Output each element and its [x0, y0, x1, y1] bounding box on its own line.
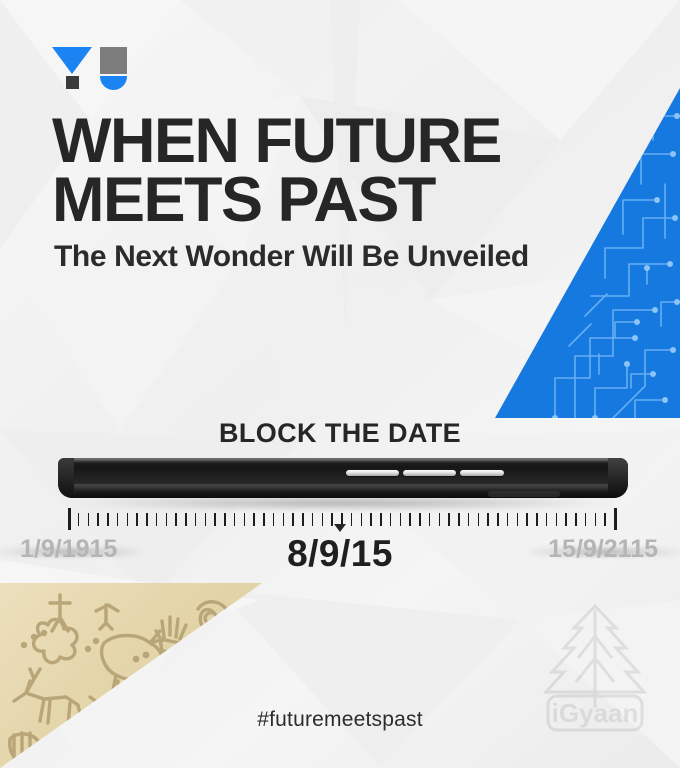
ruler-tick — [390, 513, 392, 526]
ruler-tick — [604, 513, 606, 526]
ruler-tick — [575, 513, 577, 526]
ruler-tick — [361, 513, 363, 526]
ruler-tick — [478, 513, 480, 526]
ruler-tick — [136, 513, 138, 526]
ruler-tick — [224, 513, 226, 526]
yu-logo — [52, 47, 124, 89]
ruler-tick — [205, 513, 207, 526]
ruler-tick — [400, 513, 402, 526]
ruler-tick — [322, 513, 324, 526]
ruler-tick — [517, 513, 519, 526]
ruler-tick — [370, 513, 372, 526]
ruler-tick — [331, 513, 333, 526]
phone-volume-down-button — [403, 470, 456, 476]
ruler-tick — [78, 513, 80, 526]
ruler-tick — [166, 513, 168, 526]
ruler-tick — [263, 513, 265, 526]
phone-power-button — [460, 470, 504, 476]
ruler-tick — [146, 513, 148, 526]
igyaan-watermark: iGyaan — [534, 596, 656, 754]
ruler-tick — [458, 513, 460, 526]
phone-left-cap — [58, 458, 74, 498]
ruler-tick — [127, 513, 129, 526]
ruler-tick — [273, 513, 275, 526]
ruler-end-tick — [614, 508, 617, 530]
ruler-tick — [185, 513, 187, 526]
phone-body — [58, 458, 628, 498]
block-the-date-label: BLOCK THE DATE — [0, 418, 680, 449]
logo-y-triangle-icon — [52, 47, 92, 74]
ruler-tick — [497, 513, 499, 526]
phone-chamfer — [58, 484, 628, 491]
headline: WHEN FUTURE MEETS PAST — [52, 112, 632, 229]
ruler-tick — [448, 513, 450, 526]
ruler-tick — [244, 513, 246, 526]
ruler-tick — [156, 513, 158, 526]
logo-y-dot-icon — [66, 76, 79, 89]
ruler-tick — [565, 513, 567, 526]
ruler-tick — [107, 513, 109, 526]
igyaan-logo-icon: iGyaan — [534, 596, 656, 754]
ruler-tick — [195, 513, 197, 526]
ruler-tick — [312, 513, 314, 526]
ruler-tick — [487, 513, 489, 526]
ruler-tick — [234, 513, 236, 526]
ruler-tick — [302, 513, 304, 526]
ruler-tick — [507, 513, 509, 526]
ruler-tick — [419, 513, 421, 526]
ruler-tick — [253, 513, 255, 526]
igyaan-wordmark: iGyaan — [552, 698, 639, 728]
ruler-tick — [536, 513, 538, 526]
ruler-tick — [283, 513, 285, 526]
ruler-tick — [468, 513, 470, 526]
ruler-tick — [351, 513, 353, 526]
ruler-tick — [380, 513, 382, 526]
logo-u-bowl-icon — [100, 76, 127, 90]
ruler-tick — [429, 513, 431, 526]
smartphone-side-profile — [58, 458, 628, 510]
ruler-tick — [595, 513, 597, 526]
promo-poster: WHEN FUTURE MEETS PAST The Next Wonder W… — [0, 0, 680, 768]
ruler-tick — [585, 513, 587, 526]
phone-top-edge — [60, 459, 626, 463]
timeline-pointer — [334, 524, 346, 532]
ruler-tick — [292, 513, 294, 526]
ruler-tick — [175, 513, 177, 526]
phone-port — [488, 491, 560, 497]
ruler-end-tick — [68, 508, 71, 530]
timeline-right-date: 15/9/2115 — [548, 535, 658, 564]
ruler-tick — [409, 513, 411, 526]
ruler-tick — [556, 513, 558, 526]
ruler-tick — [546, 513, 548, 526]
phone-right-cap — [608, 458, 628, 498]
headline-line-2: MEETS PAST — [52, 171, 632, 230]
ruler-tick — [117, 513, 119, 526]
phone-volume-up-button — [346, 470, 399, 476]
logo-u-rect-icon — [100, 47, 127, 74]
ruler-tick — [214, 513, 216, 526]
ruler-tick — [526, 513, 528, 526]
ruler-tick — [97, 513, 99, 526]
ruler-tick — [88, 513, 90, 526]
headline-subtitle: The Next Wonder Will Be Unveiled — [54, 240, 529, 274]
ruler-tick — [439, 513, 441, 526]
